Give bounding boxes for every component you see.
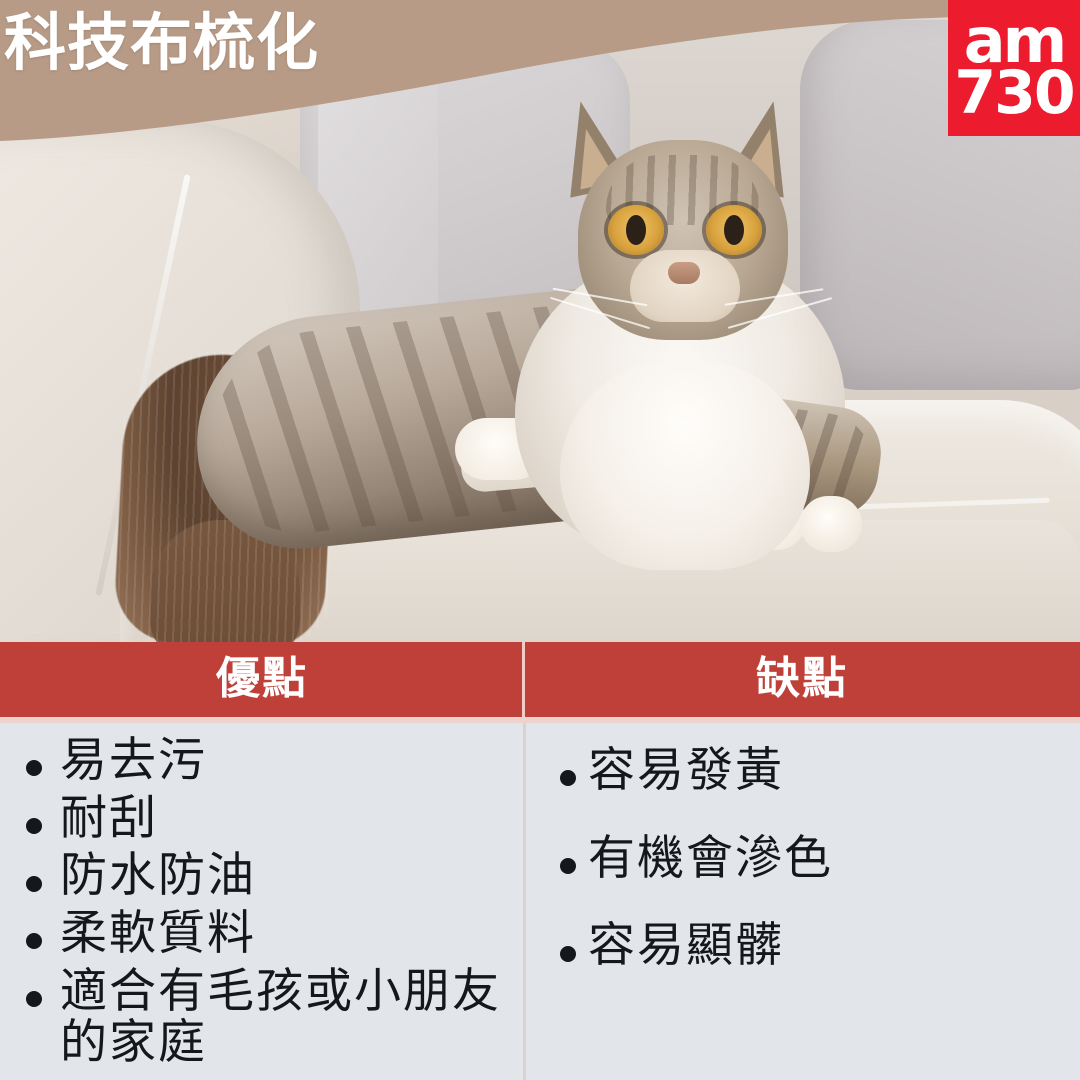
- comparison-table-header: 優點 缺點: [0, 642, 1080, 718]
- list-item: 防水防油: [0, 850, 523, 902]
- cons-column: 容易發黃 有機會滲色 容易顯髒: [526, 723, 1080, 1008]
- am730-logo[interactable]: am 730: [948, 0, 1080, 136]
- comparison-table-body: 易去污 耐刮 防水防油 柔軟質料 適合有毛孩或小朋友的家庭 容易發黃 有機會滲色…: [0, 723, 1080, 1080]
- column-divider: [523, 723, 526, 1080]
- cons-list: 容易發黃 有機會滲色 容易顯髒: [526, 723, 1080, 972]
- cons-header-label: 缺點: [756, 657, 848, 701]
- list-item: 適合有毛孩或小朋友的家庭: [0, 966, 523, 1069]
- list-item: 有機會滲色: [526, 833, 1080, 885]
- infographic-card: 科技布梳化 am 730 優點 缺點 易去污 耐刮 防水防油 柔軟質料 適合有毛…: [0, 0, 1080, 1080]
- header-divider: [522, 642, 525, 718]
- list-item: 容易顯髒: [526, 920, 1080, 972]
- page-title: 科技布梳化: [4, 10, 319, 75]
- pros-header-label: 優點: [216, 657, 308, 701]
- cat-muzzle: [630, 250, 740, 322]
- list-item: 柔軟質料: [0, 908, 523, 960]
- title-banner: 科技布梳化: [0, 0, 1080, 150]
- list-item: 容易發黃: [526, 745, 1080, 797]
- cat-pupil-right: [724, 215, 744, 245]
- pros-list: 易去污 耐刮 防水防油 柔軟質料 適合有毛孩或小朋友的家庭: [0, 723, 523, 1069]
- logo-730-text: 730: [954, 68, 1073, 120]
- cat-paw-right-b: [800, 496, 862, 552]
- list-item: 易去污: [0, 735, 523, 787]
- cat-chest: [560, 360, 810, 570]
- header-cell-cons: 缺點: [524, 642, 1080, 718]
- list-item: 耐刮: [0, 793, 523, 845]
- cat-pupil-left: [626, 215, 646, 245]
- header-cell-pros: 優點: [0, 642, 524, 718]
- pros-column: 易去污 耐刮 防水防油 柔軟質料 適合有毛孩或小朋友的家庭: [0, 723, 523, 1075]
- cat-nose: [668, 262, 700, 284]
